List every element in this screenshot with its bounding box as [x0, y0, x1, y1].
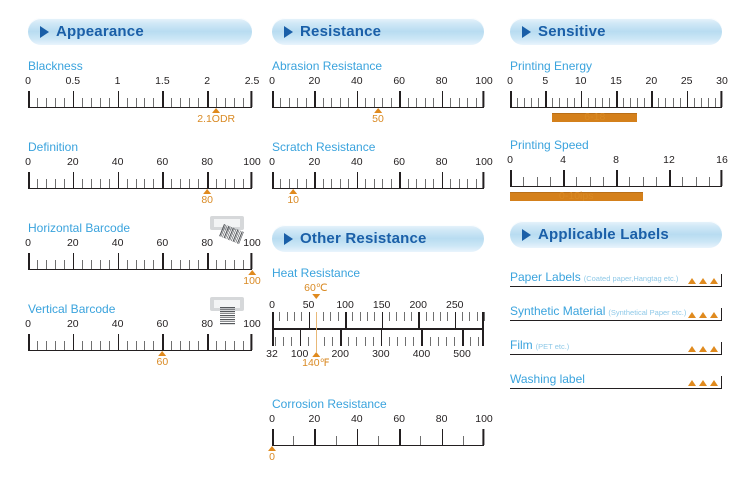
fahrenheit-minor-tick [446, 337, 447, 346]
minor-tick [46, 98, 47, 107]
minor-tick [37, 98, 38, 107]
celsius-minor-tick [426, 312, 427, 321]
minor-tick [216, 98, 217, 107]
tick-label: 0.5 [65, 75, 80, 87]
tick-label: 4 [560, 154, 566, 166]
ruler-scale [272, 169, 484, 189]
major-tick [482, 172, 484, 188]
minor-tick [715, 98, 716, 107]
minor-tick [144, 341, 145, 350]
minor-tick [603, 177, 604, 186]
minor-tick [280, 98, 281, 107]
minor-tick [696, 177, 697, 186]
minor-tick [144, 179, 145, 188]
tick-label: 0 [269, 299, 275, 311]
minor-tick [550, 177, 551, 186]
metric-corrosion-resistance: Corrosion Resistance0204060801000 [272, 397, 484, 466]
minor-tick [171, 341, 172, 350]
tick-label: 400 [413, 348, 431, 360]
tick-label: 40 [112, 156, 124, 168]
minor-tick [289, 179, 290, 188]
fahrenheit-minor-tick [283, 337, 284, 346]
rating-film [688, 346, 722, 352]
fahrenheit-major-tick [272, 330, 274, 346]
ruler-vertical-barcode: 02040608010060 [28, 318, 252, 371]
minor-tick [91, 179, 92, 188]
tick-label: 60 [157, 156, 169, 168]
fahrenheit-minor-tick [348, 337, 349, 346]
ruler-scratch-resistance: 02040608010010 [272, 156, 484, 209]
minor-tick [136, 260, 137, 269]
minor-tick [82, 260, 83, 269]
celsius-minor-tick [396, 312, 397, 321]
minor-tick [234, 179, 235, 188]
minor-tick [153, 98, 154, 107]
section-title: Applicable Labels [538, 226, 669, 243]
major-tick [357, 91, 359, 107]
major-tick [73, 253, 75, 269]
label-row-washing-label[interactable]: Washing label [510, 364, 722, 389]
minor-tick [82, 341, 83, 350]
marker-value: 0 [268, 451, 276, 463]
major-tick [545, 91, 547, 107]
celsius-minor-tick [287, 312, 288, 321]
celsius-major-tick [455, 312, 457, 328]
metric-header: Heat Resistance [272, 266, 484, 280]
minor-tick [144, 260, 145, 269]
minor-tick [64, 98, 65, 107]
celsius-major-tick [345, 312, 347, 328]
minor-tick [180, 341, 181, 350]
celsius-major-tick [418, 312, 420, 328]
rating-triangle-icon [688, 346, 696, 352]
minor-tick [523, 177, 524, 186]
tick-label: 40 [112, 318, 124, 330]
minor-tick [517, 98, 518, 107]
celsius-minor-tick [279, 312, 280, 321]
major-tick [720, 91, 722, 107]
label-row-name: Synthetic Material [510, 304, 605, 318]
minor-tick [55, 341, 56, 350]
celsius-minor-tick [374, 312, 375, 321]
major-tick [162, 91, 164, 107]
minor-tick [459, 179, 460, 188]
minor-tick [644, 98, 645, 107]
tick-label: 80 [201, 318, 213, 330]
tick-label: 8 [613, 154, 619, 166]
metric-label: Printing Energy [510, 59, 722, 73]
major-tick [510, 91, 512, 107]
minor-tick [127, 260, 128, 269]
minor-tick [623, 98, 624, 107]
minor-tick [55, 98, 56, 107]
ruler-axis [272, 328, 484, 330]
chevron-right-icon [522, 26, 531, 38]
celsius-minor-tick [301, 312, 302, 321]
major-tick [162, 334, 164, 350]
celsius-minor-tick [338, 312, 339, 321]
fahrenheit-minor-tick [308, 337, 309, 346]
section-header-sensitive[interactable]: Sensitive [510, 18, 722, 45]
tick-label: 80 [201, 237, 213, 249]
minor-tick [109, 341, 110, 350]
major-tick [357, 172, 359, 188]
minor-tick [100, 98, 101, 107]
fahrenheit-major-tick [421, 330, 423, 346]
value-marker: 0 [268, 446, 276, 463]
minor-tick [374, 179, 375, 188]
chevron-right-icon [522, 229, 531, 241]
minor-tick [189, 98, 190, 107]
minor-tick [420, 436, 421, 445]
minor-tick [297, 98, 298, 107]
celsius-minor-tick [404, 312, 405, 321]
minor-tick [189, 341, 190, 350]
value-marker: 10 [287, 189, 299, 206]
major-tick [581, 91, 583, 107]
tick-label: 12 [663, 154, 675, 166]
minor-tick [416, 98, 417, 107]
minor-tick [91, 341, 92, 350]
marker-value: 10 [287, 194, 299, 206]
major-tick [162, 172, 164, 188]
minor-tick [637, 98, 638, 107]
minor-tick [602, 98, 603, 107]
label-row-film[interactable]: Film(PET etc.) [510, 330, 722, 355]
celsius-minor-tick [433, 312, 434, 321]
minor-tick [109, 260, 110, 269]
label-row-name: Paper Labels [510, 270, 581, 284]
column-resistance: ResistanceAbrasion Resistance02040608010… [272, 0, 484, 478]
metric-label: Blackness [28, 59, 252, 73]
minor-tick [153, 260, 154, 269]
fahrenheit-minor-tick [332, 337, 333, 346]
minor-tick [234, 260, 235, 269]
ruler-tick-labels: 020406080100 [272, 413, 484, 426]
tick-label: 20 [67, 318, 79, 330]
tick-label: 60 [393, 75, 405, 87]
minor-tick [293, 436, 294, 445]
minor-tick [280, 179, 281, 188]
metric-definition: Definition02040608010080 [28, 140, 252, 209]
tick-label: 60 [393, 156, 405, 168]
ruler-tick-labels: 020406080100 [28, 156, 252, 169]
celsius-tick-labels: 050100150200250 [272, 299, 484, 312]
celsius-major-tick [382, 312, 384, 328]
metric-header: Vertical Barcode [28, 302, 252, 316]
major-tick [314, 172, 316, 188]
section-header-other-resistance[interactable]: Other Resistance [272, 225, 484, 252]
minor-tick [467, 179, 468, 188]
ruler-heat-resistance: 60℃05010015020025032100200300400500140℉ [272, 282, 484, 385]
celsius-minor-tick [389, 312, 390, 321]
minor-tick [234, 341, 235, 350]
spec-sheet-page: AppearanceBlackness00.511.522.52.1ODRDef… [0, 0, 746, 446]
major-tick [314, 91, 316, 107]
fahrenheit-minor-tick [430, 337, 431, 346]
minor-tick [189, 179, 190, 188]
minor-tick [109, 98, 110, 107]
fahrenheit-minor-tick [405, 337, 406, 346]
minor-tick [127, 98, 128, 107]
marker-value-celsius: 60℃ [304, 282, 327, 294]
tick-label: 60 [393, 413, 405, 425]
metric-header: Scratch Resistance [272, 140, 484, 154]
major-tick [442, 91, 444, 107]
rating-synthetic-material [688, 312, 722, 318]
tick-label: 1.5 [155, 75, 170, 87]
tick-label: 20 [645, 75, 657, 87]
minor-tick [153, 341, 154, 350]
ruler-tick-labels: 020406080100 [272, 156, 484, 169]
tick-label: 0 [507, 154, 513, 166]
minor-tick [408, 179, 409, 188]
minor-tick [680, 98, 681, 107]
major-tick [314, 429, 316, 445]
label-row-text: Washing label [510, 372, 585, 386]
ruler-scale [28, 250, 252, 270]
tick-label: 200 [409, 299, 427, 311]
ruler-scale [28, 169, 252, 189]
ruler-blackness: 00.511.522.52.1ODR [28, 75, 252, 128]
metric-header: Corrosion Resistance [272, 397, 484, 411]
minor-tick [243, 98, 244, 107]
tick-label: 20 [67, 156, 79, 168]
ruler-scale [272, 88, 484, 108]
minor-tick [323, 98, 324, 107]
tick-label: 20 [67, 237, 79, 249]
column-appearance: AppearanceBlackness00.511.522.52.1ODRDef… [28, 0, 252, 383]
fahrenheit-minor-tick [478, 337, 479, 346]
metric-abrasion-resistance: Abrasion Resistance02040608010050 [272, 59, 484, 128]
minor-tick [336, 436, 337, 445]
minor-tick [450, 179, 451, 188]
marker-value: 50 [372, 113, 384, 125]
major-tick [207, 334, 209, 350]
metric-horizontal-barcode: Horizontal Barcode020406080100100 [28, 221, 252, 290]
minor-tick [46, 179, 47, 188]
minor-tick [144, 98, 145, 107]
minor-tick [136, 98, 137, 107]
fahrenheit-minor-tick [470, 337, 471, 346]
minor-tick [643, 177, 644, 186]
minor-tick [127, 179, 128, 188]
label-row-name: Washing label [510, 372, 585, 386]
metric-label: Definition [28, 140, 252, 154]
minor-tick [382, 179, 383, 188]
tick-label: 2.5 [245, 75, 260, 87]
tick-label: 150 [373, 299, 391, 311]
marker-value-fahrenheit: 140℉ [302, 357, 330, 369]
rating-triangle-icon [699, 312, 707, 318]
minor-tick [323, 179, 324, 188]
tick-label: 5 [542, 75, 548, 87]
celsius-minor-tick [367, 312, 368, 321]
marker-value: 60 [157, 356, 169, 368]
chevron-right-icon [40, 26, 49, 38]
celsius-minor-tick [352, 312, 353, 321]
ruler-scale [272, 426, 484, 446]
tick-label: 0 [25, 156, 31, 168]
minor-tick [216, 341, 217, 350]
major-tick [118, 334, 120, 350]
minor-tick [189, 260, 190, 269]
tick-label: 1 [115, 75, 121, 87]
major-tick [687, 91, 689, 107]
major-tick [73, 172, 75, 188]
tick-label: 20 [309, 75, 321, 87]
minor-tick [378, 436, 379, 445]
major-tick [250, 334, 252, 350]
tick-label: 16 [716, 154, 728, 166]
major-tick [399, 172, 401, 188]
ruler-definition: 02040608010080 [28, 156, 252, 209]
tick-label: 0 [507, 75, 513, 87]
metric-header: Definition [28, 140, 252, 154]
rating-triangle-icon [710, 278, 718, 284]
tick-label: 100 [243, 318, 261, 330]
minor-tick [82, 98, 83, 107]
major-tick [272, 429, 274, 445]
tick-label: 250 [446, 299, 464, 311]
range-label: 6-18 [584, 111, 605, 123]
ruler-tick-labels: 020406080100 [28, 237, 252, 250]
tick-label: 30 [716, 75, 728, 87]
label-row-note: (Coated paper,Hangtag etc.) [584, 274, 679, 283]
major-tick [720, 170, 722, 186]
tick-label: 60 [157, 318, 169, 330]
tick-label: 15 [610, 75, 622, 87]
ruler-horizontal-barcode: 020406080100100 [28, 237, 252, 290]
celsius-minor-tick [447, 312, 448, 321]
minor-tick [552, 98, 553, 107]
label-row-synthetic-material[interactable]: Synthetic Material(Synthetical Paper etc… [510, 296, 722, 321]
minor-tick [433, 179, 434, 188]
rating-triangle-icon [688, 312, 696, 318]
fahrenheit-major-tick [462, 330, 464, 346]
tick-label: 100 [475, 75, 493, 87]
celsius-minor-tick [477, 312, 478, 321]
rating-triangle-icon [688, 278, 696, 284]
minor-tick [289, 98, 290, 107]
major-tick [28, 172, 30, 188]
value-marker: 100 [243, 270, 261, 287]
minor-tick [531, 98, 532, 107]
minor-tick [331, 179, 332, 188]
major-tick [28, 334, 30, 350]
ruler-scale [510, 167, 722, 187]
minor-tick [91, 98, 92, 107]
minor-tick [365, 98, 366, 107]
tick-label: 0 [269, 156, 275, 168]
minor-tick [82, 179, 83, 188]
minor-tick [216, 260, 217, 269]
rating-triangle-icon [699, 278, 707, 284]
minor-tick [153, 179, 154, 188]
ruler-printing-energy: 0510152025306-18 [510, 75, 722, 126]
minor-tick [55, 260, 56, 269]
minor-tick [225, 341, 226, 350]
section-header-applicable-labels[interactable]: Applicable Labels [510, 221, 722, 248]
label-row-name: Film [510, 338, 533, 352]
minor-tick [100, 260, 101, 269]
metric-heat-resistance: Heat Resistance60℃0501001502002503210020… [272, 266, 484, 385]
minor-tick [348, 98, 349, 107]
dual-ruler-scale [272, 312, 484, 346]
minor-tick [476, 98, 477, 107]
celsius-major-tick [309, 312, 311, 328]
minor-tick [708, 98, 709, 107]
tick-label: 0 [269, 413, 275, 425]
minor-tick [567, 98, 568, 107]
minor-tick [416, 179, 417, 188]
celsius-minor-tick [411, 312, 412, 321]
tick-label: 100 [243, 156, 261, 168]
metric-printing-energy: Printing Energy0510152025306-18 [510, 59, 722, 126]
value-marker: 60 [157, 351, 169, 368]
minor-tick [463, 436, 464, 445]
tick-label: 40 [351, 413, 363, 425]
major-tick [399, 91, 401, 107]
minor-tick [709, 177, 710, 186]
major-tick [442, 172, 444, 188]
minor-tick [225, 260, 226, 269]
rating-triangle-icon [688, 380, 696, 386]
major-tick [357, 429, 359, 445]
ruler-tick-labels: 020406080100 [272, 75, 484, 88]
minor-tick [629, 177, 630, 186]
major-tick [272, 172, 274, 188]
tick-label: 20 [309, 156, 321, 168]
range-label: 0-10ips [559, 190, 593, 202]
minor-tick [588, 98, 589, 107]
major-tick [510, 170, 512, 186]
marker-value: 2.1ODR [197, 113, 235, 125]
major-tick [162, 253, 164, 269]
value-marker: 50 [372, 108, 384, 125]
minor-tick [180, 98, 181, 107]
tick-label: 40 [351, 156, 363, 168]
section-header-appearance[interactable]: Appearance [28, 18, 252, 45]
minor-tick [433, 98, 434, 107]
minor-tick [467, 98, 468, 107]
minor-tick [682, 177, 683, 186]
fahrenheit-minor-tick [365, 337, 366, 346]
tick-label: 2 [204, 75, 210, 87]
rating-washing-label [688, 380, 722, 386]
minor-tick [656, 177, 657, 186]
minor-tick [408, 98, 409, 107]
ruler-tick-labels: 020406080100 [28, 318, 252, 331]
minor-tick [136, 179, 137, 188]
minor-tick [180, 260, 181, 269]
label-row-text: Paper Labels(Coated paper,Hangtag etc.) [510, 270, 678, 284]
minor-tick [55, 179, 56, 188]
label-row-paper-labels[interactable]: Paper Labels(Coated paper,Hangtag etc.) [510, 262, 722, 287]
tick-label: 25 [681, 75, 693, 87]
minor-tick [46, 341, 47, 350]
metric-vertical-barcode: Vertical Barcode02040608010060 [28, 302, 252, 371]
celsius-minor-tick [323, 312, 324, 321]
minor-tick [297, 179, 298, 188]
metric-header: Printing Energy [510, 59, 722, 73]
section-title: Appearance [56, 23, 144, 40]
metric-printing-speed: Printing Speed04812160-10ips [510, 138, 722, 205]
minor-tick [537, 177, 538, 186]
section-header-resistance[interactable]: Resistance [272, 18, 484, 45]
minor-tick [450, 98, 451, 107]
minor-tick [64, 341, 65, 350]
